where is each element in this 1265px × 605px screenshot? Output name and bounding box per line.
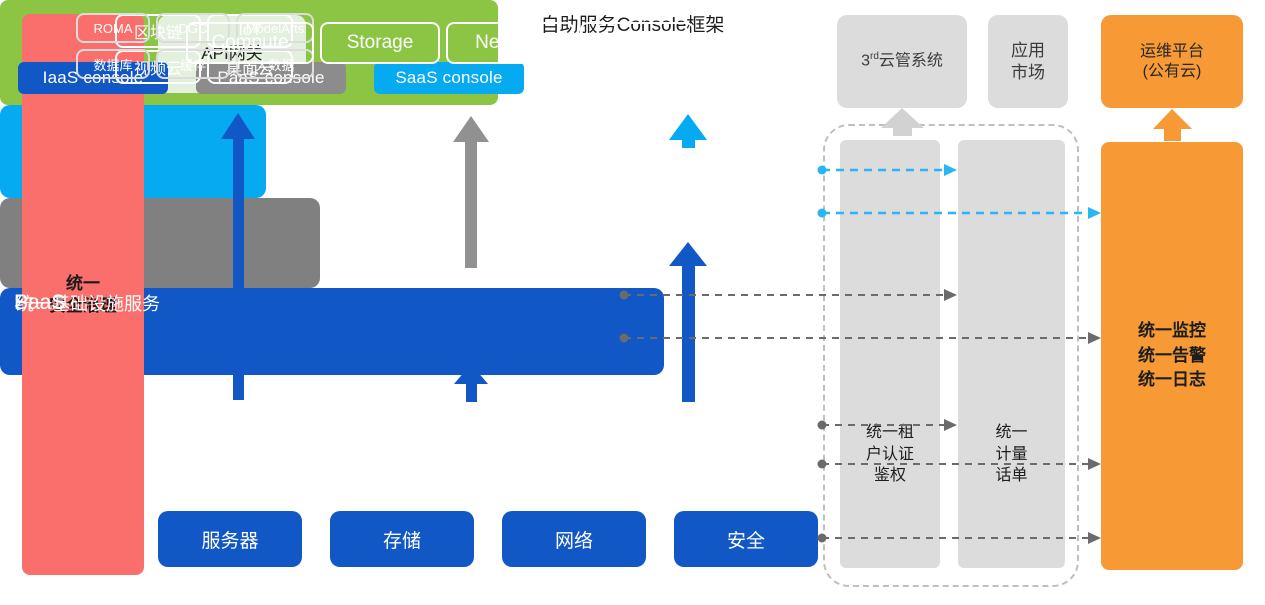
billing-col-line2: 计量 bbox=[958, 444, 1065, 466]
arrow-paas-to-console bbox=[453, 116, 489, 268]
app-market-line1: 应用 bbox=[1011, 40, 1045, 61]
third-cloud-label: 3rd云管系统 bbox=[861, 51, 943, 71]
billing-col-line3: 话单 bbox=[958, 465, 1065, 487]
unified-infrastructure-bar: 统一基础设施服务 Compute Storage Network CCE bbox=[0, 288, 664, 375]
app-market-box: 应用 市场 bbox=[988, 15, 1068, 108]
ops-platform-box: 运维平台 (公有云) bbox=[1101, 15, 1243, 108]
arrow-monitor-to-ops-platform bbox=[1153, 109, 1192, 141]
auth-col-line1: 统一租 bbox=[840, 422, 940, 444]
iaas-chip-network[interactable]: Network bbox=[446, 22, 574, 64]
iaas-bar-label: 统一基础设施服务 bbox=[16, 0, 160, 605]
iaas-chip-compute[interactable]: Compute bbox=[186, 22, 314, 64]
third-party-cloud-mgmt-box: 3rd云管系统 bbox=[837, 15, 967, 108]
ops-platform-line1: 运维平台 bbox=[1140, 42, 1204, 62]
resource-box-server[interactable]: 服务器 bbox=[158, 511, 302, 567]
monitor-line1: 统一监控 bbox=[1138, 319, 1206, 344]
billing-col-line1: 统一 bbox=[958, 422, 1065, 444]
unified-tenant-auth-column: 统一租 户认证 鉴权 bbox=[840, 140, 940, 568]
architecture-diagram: 统一 安全治理 API网关 自助服务Console框架 IaaS console… bbox=[0, 0, 1265, 605]
iaas-chip-cce[interactable]: CCE bbox=[580, 22, 694, 64]
resource-box-security[interactable]: 安全 bbox=[674, 511, 818, 567]
arrow-iaas-to-saas bbox=[669, 242, 707, 402]
monitor-line2: 统一告警 bbox=[1138, 344, 1206, 369]
resource-box-storage[interactable]: 存储 bbox=[330, 511, 474, 567]
unified-monitoring-pillar: 统一监控 统一告警 统一日志 bbox=[1101, 142, 1243, 570]
arrow-saas-to-console bbox=[669, 114, 707, 148]
iaas-chip-storage[interactable]: Storage bbox=[320, 22, 440, 64]
resource-box-network[interactable]: 网络 bbox=[502, 511, 646, 567]
unified-metering-billing-column: 统一 计量 话单 bbox=[958, 140, 1065, 568]
monitor-line3: 统一日志 bbox=[1138, 368, 1206, 393]
saas-console-chip[interactable]: SaaS console bbox=[374, 62, 524, 94]
auth-col-line3: 鉴权 bbox=[840, 465, 940, 487]
ops-platform-line2: (公有云) bbox=[1140, 62, 1204, 82]
auth-col-line2: 户认证 bbox=[840, 444, 940, 466]
app-market-line2: 市场 bbox=[1011, 62, 1045, 83]
